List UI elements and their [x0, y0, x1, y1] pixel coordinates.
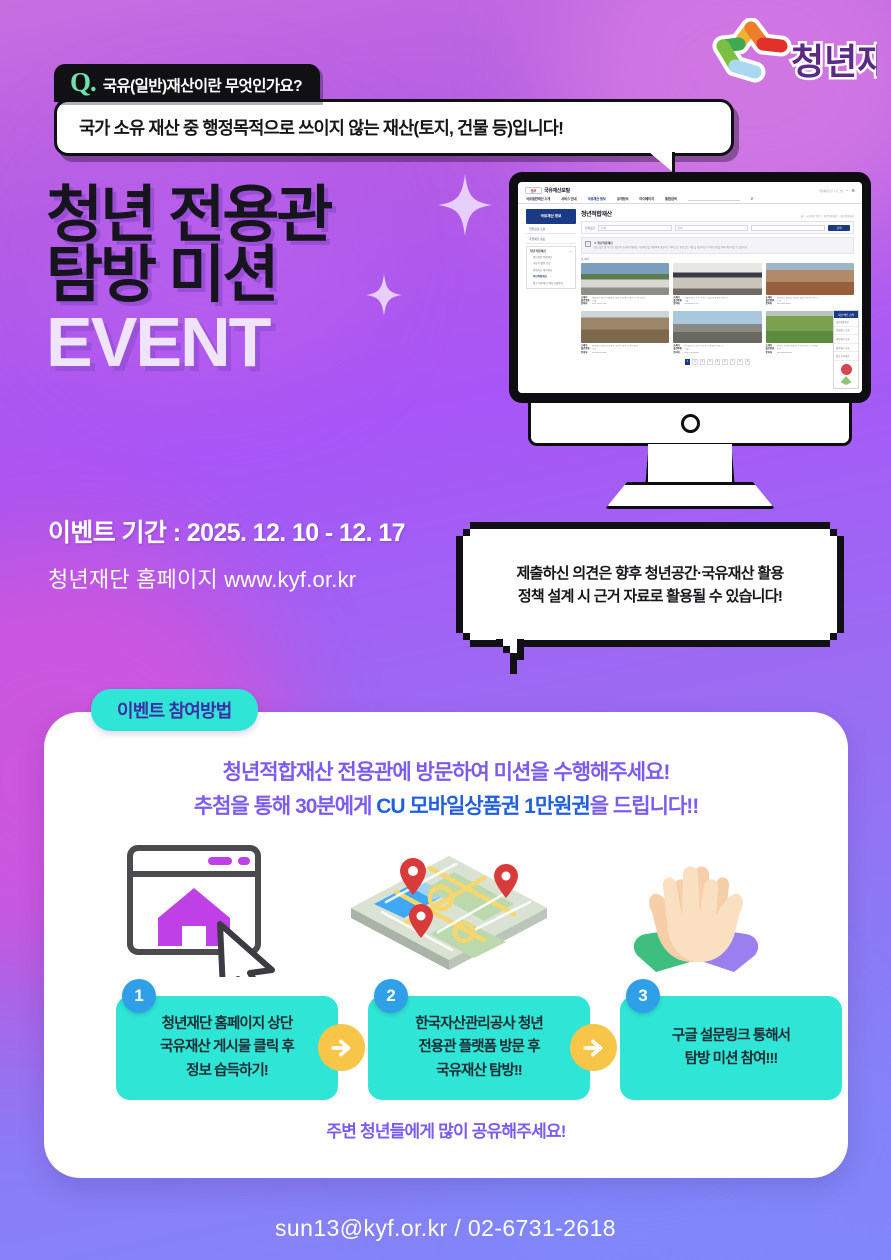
quick-panel-item[interactable]: 캠코 추천재산	[834, 352, 858, 361]
site-nav[interactable]: 국유일반재산 소개 서비스 안내 국유재산 정보 공개정보 마이페이지 통합검색…	[518, 196, 862, 204]
quick-panel-item[interactable]: 매각재산 조회	[834, 344, 858, 353]
site-nav-item-4[interactable]: 마이페이지	[639, 196, 654, 201]
property-card[interactable]: 소재지전라남도 순천시 연향동 국유재산 대부 건 물건종류건물 문의처061-…	[673, 311, 761, 355]
property-photo	[766, 263, 854, 295]
site-main-header: 청년적합재산 홈 > 국유재산 정보 > 청년적합재산 > 청년적합재산	[581, 209, 854, 218]
page-button[interactable]: 9	[745, 359, 751, 365]
card-key: 문의처	[581, 352, 590, 355]
sidebar-subitem[interactable]: 캠코 대부재산 임대 신청안내	[530, 280, 572, 287]
site-sidebar: 국유재산 정보 입찰정보 조회 국유재산 정보 청년적합재산 ⌄ 청년창업 적합…	[526, 209, 576, 368]
lead-line-2: 추첨을 통해 30분에게 CU 모바일상품권 1만원권을 드립니다!!	[44, 790, 848, 824]
headline-line-3: EVENT	[46, 307, 476, 378]
step-badge-2: 2	[374, 979, 408, 1013]
property-photo	[673, 263, 761, 295]
bubble-tail	[649, 152, 675, 174]
page-button[interactable]: 6	[722, 359, 728, 365]
question-text: 국유(일반)재산이란 무엇인가요?	[103, 74, 302, 96]
seal-stamp-icon	[841, 364, 852, 375]
site-utility-bar[interactable]: 국유재산신고 + 로그인 − ⚙	[819, 188, 855, 193]
step-badge-1: 1	[122, 979, 156, 1013]
contact-footer: sun13@kyf.or.kr / 02-6731-2618	[0, 1215, 891, 1242]
monitor-stand-neck-fill	[648, 444, 732, 486]
arrow-right-icon-2	[570, 1024, 617, 1071]
step-box-3: 구글 설문링크 통해서 탐방 미션 참여!!!	[620, 996, 842, 1100]
qa-block: Q. 국유(일반)재산이란 무엇인가요? 국가 소유 재산 중 행정목적으로 쓰…	[54, 64, 734, 156]
site-header: 캠코 국유재산포털 국유재산신고 + 로그인 − ⚙	[518, 182, 862, 196]
property-photo	[673, 311, 761, 343]
sidebar-item[interactable]: 국유재산 정보	[526, 234, 576, 244]
sidebar-submenu: 청년적합재산 ⌄ 청년창업 적합재산 국유지 활용 공간 임대가능 대부재산 청…	[526, 246, 576, 289]
sidebar-subitem[interactable]: 국유지 활용 공간	[530, 260, 572, 267]
card-key: 문의처	[581, 303, 590, 306]
pixel-bubble-line-2: 정책 설계 시 근거 자료로 활용될 수 있습니다!	[486, 585, 814, 608]
property-card[interactable]: 소재지경상남도 창원시 진해구 국유지 대부 건 외 2필지 물건종류토지 문의…	[581, 311, 669, 355]
sidebar-item[interactable]: 입찰정보 조회	[526, 224, 576, 234]
event-period: 이벤트 기간 : 2025. 12. 10 - 12. 17	[48, 513, 405, 549]
site-utility-text: 국유재산신고 + 로그인	[819, 189, 843, 193]
site-page-title: 청년적합재산	[581, 209, 612, 218]
card-key: 문의처	[673, 303, 682, 306]
site-property-grid: 소재지경상북도 경주시 황남동 일원 국유재산 대부 건 외 1필지 물건종류건…	[581, 263, 854, 356]
minimize-icon[interactable]: −	[846, 188, 848, 193]
page-button[interactable]: 4	[707, 359, 713, 365]
card-key: 문의처	[766, 352, 775, 355]
site-pagination[interactable]: 1 2 3 4 5 6 7 8 9	[581, 359, 854, 365]
card-value: 055-225-2000	[592, 352, 669, 355]
headline-line-2: 탐방 미션	[46, 246, 476, 306]
instruction-card: 청년적합재산 전용관에 방문하여 미션을 수행해주세요! 추첨을 통해 30분에…	[44, 712, 848, 1178]
sidebar-subitem[interactable]: 임대가능 대부재산	[530, 267, 572, 274]
site-main: 청년적합재산 홈 > 국유재산 정보 > 청년적합재산 > 청년적합재산 검색조…	[581, 209, 854, 368]
prize-highlight: CU 모바일상품권 1만원권	[376, 795, 590, 818]
isometric-map-pins-icon	[334, 842, 564, 980]
participate-tag: 이벤트 참여방법	[91, 689, 258, 731]
search-icon[interactable]: ⌕	[751, 196, 754, 201]
page-button[interactable]: 5	[715, 359, 721, 365]
lead-line-2-post: 을 드립니다!!	[590, 795, 698, 818]
site-logo-mark: 캠코	[525, 187, 542, 194]
question-mark-label: Q.	[70, 69, 96, 96]
sidebar-submenu-label: 청년적합재산	[530, 249, 546, 253]
participate-tag-label: 이벤트 참여방법	[117, 701, 232, 721]
site-body: 국유재산 정보 입찰정보 조회 국유재산 정보 청년적합재산 ⌄ 청년창업 적합…	[518, 204, 862, 368]
site-search-input[interactable]	[688, 196, 740, 201]
site-nav-item-0[interactable]: 국유일반재산 소개	[526, 196, 550, 201]
website-screenshot: 캠코 국유재산포털 국유재산신고 + 로그인 − ⚙ 국유일반재산 소개 서비스…	[518, 182, 862, 393]
headline-line-1: 청년 전용관	[46, 186, 476, 246]
pixel-bubble-tail	[496, 632, 545, 674]
leaf-badge-icon	[841, 376, 852, 385]
pixel-bubble-body: 제출하신 의견은 향후 청년공간·국유재산 활용 정책 설계 시 근거 자료로 …	[470, 536, 830, 633]
lead-line-1: 청년적합재산 전용관에 방문하여 미션을 수행해주세요!	[44, 756, 848, 790]
page-button[interactable]: 3	[700, 359, 706, 365]
answer-text: 국가 소유 재산 중 행정목적으로 쓰이지 않는 재산(토지, 건물 등)입니다…	[79, 115, 711, 140]
quick-panel-item[interactable]: 청년적합재산	[834, 318, 858, 327]
monitor-illustration: 캠코 국유재산포털 국유재산신고 + 로그인 − ⚙ 국유일반재산 소개 서비스…	[509, 172, 871, 512]
step-box-2: 한국자산관리공사 청년 전용관 플랫폼 방문 후 국유재산 탐방!!	[368, 996, 590, 1100]
sidebar-subitem[interactable]: 청년창업 적합재산	[530, 253, 572, 260]
step-3-line-2: 탐방 미션 참여!!!	[672, 1048, 790, 1071]
monitor-screen: 캠코 국유재산포털 국유재산신고 + 로그인 − ⚙ 국유일반재산 소개 서비스…	[518, 182, 862, 393]
step-badge-3: 3	[626, 979, 660, 1013]
step-3-text: 구글 설문링크 통해서 탐방 미션 참여!!!	[672, 1025, 790, 1072]
filter-select-0[interactable]: 전체⌄	[598, 225, 672, 231]
property-photo	[581, 263, 669, 295]
property-card[interactable]: 소재지충청남도 홍성군 광천읍 일원 국유지 대부 건 물건종류토지 문의처04…	[766, 263, 854, 307]
sidebar-subitem-active[interactable]: 청년적합재산	[530, 273, 572, 280]
pixel-speech-bubble: 제출하신 의견은 향후 청년공간·국유재산 활용 정책 설계 시 근거 자료로 …	[470, 536, 830, 633]
filter-select-1[interactable]: 전체⌄	[675, 225, 749, 231]
quick-panel-heading: 재산 빠른 검색	[834, 311, 858, 318]
step-1-line-1: 청년재단 홈페이지 상단	[160, 1013, 294, 1036]
step-1-text: 청년재단 홈페이지 상단 국유재산 게시물 클릭 후 정보 습득하기!	[160, 1013, 294, 1083]
site-logo-text: 국유재산포털	[544, 187, 570, 194]
site-nav-item-3[interactable]: 공개정보	[617, 196, 629, 201]
headline-block: 청년 전용관 탐방 미션 EVENT	[46, 186, 476, 378]
card-key: 문의처	[766, 303, 775, 306]
site-nav-item-2[interactable]: 국유재산 정보	[587, 196, 605, 201]
share-message: 주변 청년들에게 많이 공유해주세요!	[44, 1117, 848, 1142]
step-box-1: 청년재단 홈페이지 상단 국유재산 게시물 클릭 후 정보 습득하기!	[116, 996, 338, 1100]
browser-home-cursor-icon	[122, 842, 297, 977]
monitor-stand-base	[605, 482, 775, 509]
property-card[interactable]: 소재지서울특별시 중구 충무로 일원 국유재산 대부 건 물건종류건물 문의처0…	[673, 263, 761, 307]
page-button[interactable]: 2	[692, 359, 698, 365]
poster-canvas: 청년재단 Q. 국유(일반)재산이란 무엇인가요? 국가 소유 재산 중 행정목…	[0, 0, 891, 1260]
arrow-right-icon-1	[318, 1024, 365, 1071]
step-2-text: 한국자산관리공사 청년 전용관 플랫폼 방문 후 국유재산 탐방!!	[415, 1013, 543, 1083]
illustration-row	[44, 842, 848, 992]
page-button[interactable]: 7	[730, 359, 736, 365]
filter-label: 검색조건	[585, 226, 595, 230]
step-2-line-1: 한국자산관리공사 청년	[415, 1013, 543, 1036]
property-card[interactable]: 소재지경상북도 경주시 황남동 일원 국유재산 대부 건 외 1필지 물건종류건…	[581, 263, 669, 307]
site-nav-item-1[interactable]: 서비스 안내	[561, 196, 576, 201]
quick-panel-item[interactable]: 대부재산 조회	[834, 335, 858, 344]
pixel-bubble-line-1: 제출하신 의견은 향후 청년공간·국유재산 활용	[486, 562, 814, 585]
page-button[interactable]: 1	[685, 359, 691, 365]
chevron-down-icon[interactable]: ⌄	[570, 249, 572, 253]
filter-select-2[interactable]: ⌄	[751, 225, 825, 231]
card-value: 02-3480-6700	[684, 303, 761, 306]
step-1-line-3: 정보 습득하기!	[160, 1060, 294, 1083]
site-result-count: 총 48건	[581, 257, 854, 261]
homepage-url: 청년재단 홈페이지 www.kyf.or.kr	[48, 562, 356, 594]
notice-title: ★ 청년적합재산	[594, 241, 748, 245]
page-button[interactable]: 8	[737, 359, 743, 365]
site-notice: ! ★ 청년적합재산 청년 창업 및 주거 등 청년의 수요에 부합하는 국유재…	[581, 237, 854, 254]
step-1-line-2: 국유재산 게시물 클릭 후	[160, 1036, 294, 1059]
settings-icon[interactable]: ⚙	[851, 188, 855, 193]
quick-panel-item[interactable]: 입찰정보 조회	[834, 327, 858, 336]
property-photo	[581, 311, 669, 343]
card-value: 061-749-3000	[684, 352, 761, 355]
step-3-line-1: 구글 설문링크 통해서	[672, 1025, 790, 1048]
sidebar-heading: 국유재산 정보	[526, 209, 576, 224]
answer-bubble: 국가 소유 재산 중 행정목적으로 쓰이지 않는 재산(토지, 건물 등)입니다…	[54, 99, 734, 156]
question-tab: Q. 국유(일반)재산이란 무엇인가요?	[54, 64, 320, 102]
card-key: 문의처	[673, 352, 682, 355]
monitor-chin	[528, 403, 852, 446]
site-search-button[interactable]: 검색	[828, 225, 850, 231]
high-five-hands-icon	[616, 844, 776, 979]
site-filter-bar[interactable]: 검색조건 전체⌄ 전체⌄ ⌄ 검색	[581, 221, 854, 234]
monitor-bezel: 캠코 국유재산포털 국유재산신고 + 로그인 − ⚙ 국유일반재산 소개 서비스…	[509, 172, 871, 403]
site-breadcrumb: 홈 > 국유재산 정보 > 청년적합재산 > 청년적합재산	[801, 214, 854, 218]
step-2-line-2: 전용관 플랫폼 방문 후	[415, 1036, 543, 1059]
step-2-line-3: 국유재산 탐방!!	[415, 1060, 543, 1083]
site-nav-item-5[interactable]: 통합검색	[665, 196, 677, 201]
card-value: 054-700-4700	[592, 303, 669, 306]
notice-body: 청년 창업 및 주거 등 청년의 수요에 부합하는 국유재산을 선별하여 제공하…	[594, 246, 748, 250]
monitor-power-dot	[681, 414, 700, 433]
info-icon: !	[585, 241, 591, 247]
site-quick-panel[interactable]: 재산 빠른 검색 청년적합재산 입찰정보 조회 대부재산 조회 매각재산 조회 …	[833, 310, 859, 389]
card-value: 041-630-1234	[777, 303, 854, 306]
site-logo: 캠코 국유재산포털	[525, 187, 570, 194]
logo-text: 청년재단	[791, 41, 877, 82]
lead-line-2-pre: 추첨을 통해 30분에게	[194, 795, 376, 818]
steps-row: 1 청년재단 홈페이지 상단 국유재산 게시물 클릭 후 정보 습득하기! 2 …	[72, 990, 820, 1102]
